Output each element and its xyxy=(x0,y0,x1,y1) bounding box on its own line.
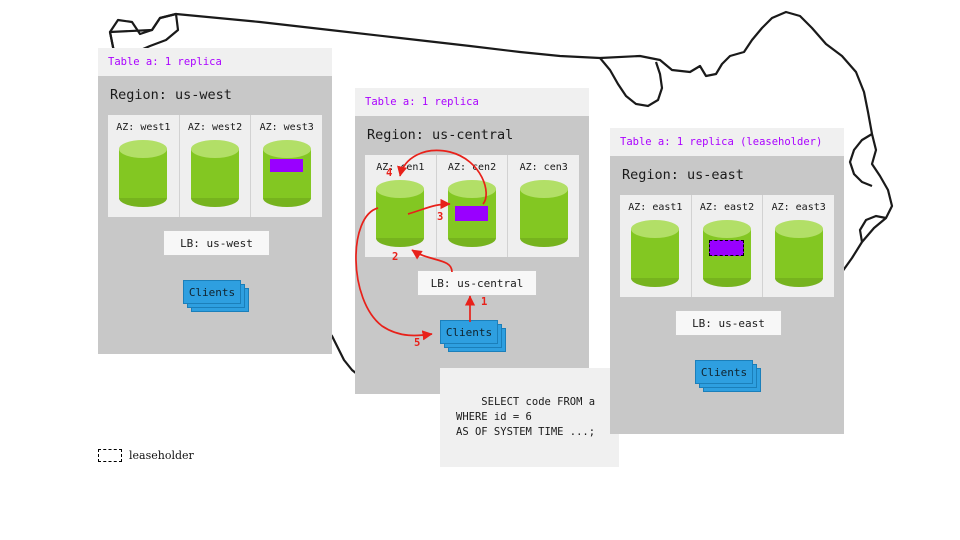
replica-box-east2-leaseholder[interactable] xyxy=(709,240,744,256)
replica-box-west3[interactable] xyxy=(270,159,303,172)
flow-arrow-4 xyxy=(400,150,486,204)
flow-arrow-3 xyxy=(408,204,450,214)
flow-step-number-5: 5 xyxy=(414,337,420,349)
flow-step-number-1: 1 xyxy=(481,296,487,308)
flow-step-number-2: 2 xyxy=(392,251,398,263)
diagram-canvas: Table a: 1 replica Region: us-west AZ: w… xyxy=(0,0,960,540)
flow-arrow-2 xyxy=(412,250,452,272)
legend-label: leaseholder xyxy=(129,449,194,462)
flow-step-number-3: 3 xyxy=(437,211,443,223)
flow-arrow-5 xyxy=(356,208,432,336)
legend-leaseholder: leaseholder xyxy=(98,449,194,462)
dashed-rect-icon xyxy=(98,449,122,462)
replica-box-cen2[interactable] xyxy=(455,206,488,221)
flow-step-number-4: 4 xyxy=(386,167,392,179)
